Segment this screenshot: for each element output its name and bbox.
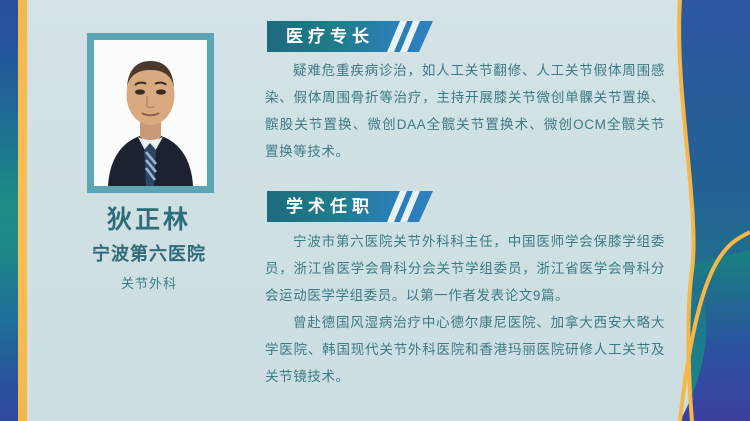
doctor-department: 关节外科 [31, 276, 267, 292]
left-yellow-stripe [18, 0, 27, 421]
doctor-name: 狄正林 [31, 205, 267, 235]
doctor-name-block: 狄正林 宁波第六医院 关节外科 [31, 205, 267, 291]
portrait-photo [94, 40, 207, 186]
left-blue-stripe [0, 0, 18, 421]
section-badge-medical-specialty: 医疗专长 [267, 21, 433, 52]
medical-specialty-text: 疑难危重疾病诊治，如人工关节翻修、人工关节假体周围感染、假体周围骨折等治疗，主持… [265, 57, 665, 165]
portrait-frame [87, 33, 214, 193]
doctor-profile-poster: 狄正林 宁波第六医院 关节外科 医疗专长 疑难危重疾病诊治，如人工关节翻修、人工… [0, 0, 750, 421]
doctor-hospital: 宁波第六医院 [31, 244, 267, 266]
section-badge-label: 医疗专长 [286, 21, 374, 52]
overseas-training-text: 曾赴德国风湿病治疗中心德尔康尼医院、加拿大西安大略大学医院、韩国现代关节外科医院… [265, 309, 665, 390]
section-badge-label: 学术任职 [286, 191, 374, 222]
academic-positions-text: 宁波市第六医院关节外科科主任，中国医师学会保膝学组委员，浙江省医学会骨科分会关节… [265, 228, 665, 309]
section-badge-academic-positions: 学术任职 [267, 191, 433, 222]
